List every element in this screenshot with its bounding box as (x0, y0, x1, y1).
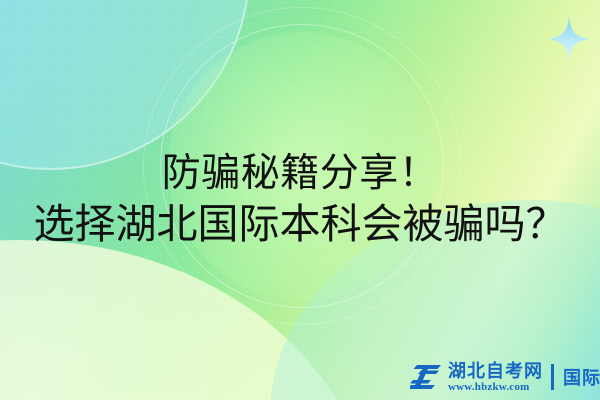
brand-tag-label: 国际本科 (563, 364, 600, 390)
page-title: 防骗秘籍分享！ 选择湖北国际本科会被骗吗？ (0, 148, 600, 250)
brand-site-url: www.hbzkw.com (448, 382, 543, 393)
brand-site-name: 湖北自考网 (448, 362, 543, 380)
brand-watermark: 湖北自考网 www.hbzkw.com 国际本科 (410, 360, 600, 394)
headline-line-2: 选择湖北国际本科会被骗吗？ (0, 199, 600, 250)
brand-divider (551, 364, 554, 390)
promo-banner: 防骗秘籍分享！ 选择湖北国际本科会被骗吗？ 湖北自考网 www.hbzkw.co… (0, 0, 600, 400)
brand-text-block: 湖北自考网 www.hbzkw.com (448, 362, 543, 393)
hbzkw-z-logo-icon (410, 363, 442, 391)
headline-line-1: 防骗秘籍分享！ (0, 148, 600, 199)
